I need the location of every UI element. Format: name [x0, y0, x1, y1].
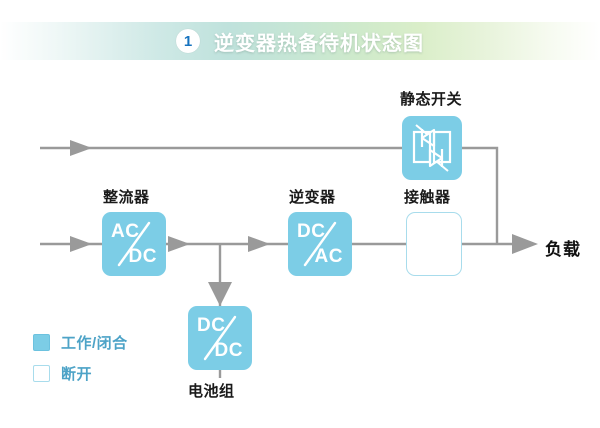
label-static-switch: 静态开关	[400, 88, 462, 109]
battery-output-type: DC	[215, 341, 243, 360]
legend-item-open: 断开	[33, 363, 128, 384]
static-switch-output-line	[462, 148, 497, 244]
legend-swatch-open-icon	[33, 365, 50, 382]
step-number-badge: 1	[176, 29, 200, 53]
legend: 工作/闭合 断开	[33, 332, 128, 394]
block-inverter[interactable]: DC AC	[288, 212, 352, 276]
legend-label-open: 断开	[61, 363, 92, 384]
header: 1 逆变器热备待机状态图	[0, 22, 600, 60]
legend-label-working: 工作/闭合	[61, 332, 128, 353]
legend-swatch-filled-icon	[33, 334, 50, 351]
page-title: 逆变器热备待机状态图	[214, 27, 424, 56]
mains-input-arrow-icon	[70, 236, 92, 252]
block-battery[interactable]: DC DC	[188, 306, 252, 370]
block-static-switch[interactable]	[402, 116, 462, 180]
battery-input-type: DC	[197, 316, 225, 335]
block-rectifier[interactable]: AC DC	[102, 212, 166, 276]
inverter-input-arrow-icon	[248, 236, 270, 252]
rectifier-output-type: DC	[129, 247, 157, 266]
inverter-output-type: AC	[315, 247, 343, 266]
label-contactor: 接触器	[404, 186, 451, 207]
label-inverter: 逆变器	[289, 186, 336, 207]
block-contactor[interactable]	[406, 212, 462, 276]
label-load: 负载	[545, 235, 581, 260]
rectifier-output-arrow-icon	[168, 236, 190, 252]
label-rectifier: 整流器	[103, 186, 150, 207]
thyristor-antiparallel-icon	[402, 116, 462, 180]
label-battery: 电池组	[188, 380, 235, 401]
inverter-input-type: DC	[297, 222, 325, 241]
battery-branch-arrow-icon	[208, 282, 232, 306]
load-arrow-icon	[512, 234, 538, 254]
bypass-arrow-icon	[70, 140, 92, 156]
rectifier-input-type: AC	[111, 222, 139, 241]
diagram-canvas: 静态开关 AC DC 整流器 DC AC 逆变器 接触器 DC DC 电池组 负…	[0, 60, 600, 428]
legend-item-working: 工作/闭合	[33, 332, 128, 353]
